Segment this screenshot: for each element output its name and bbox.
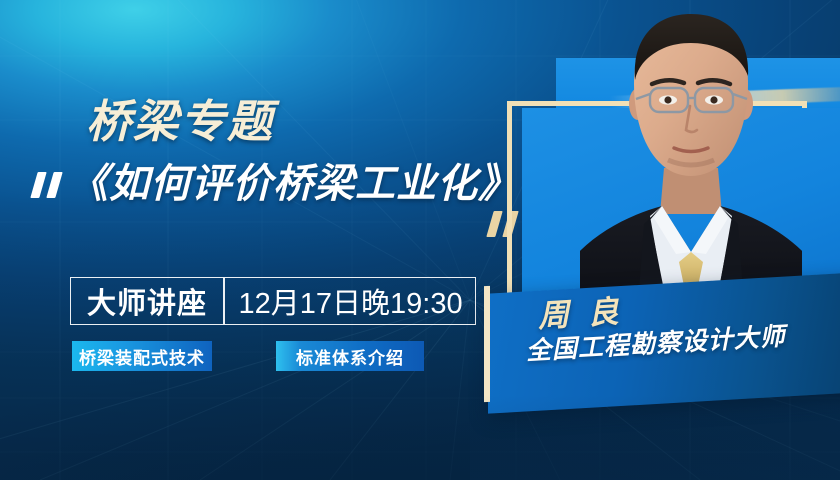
nameplate-gold-edge: [484, 286, 490, 402]
page-title: 桥梁专题: [86, 99, 274, 144]
lecture-info-bar: 大师讲座 12月17日晚19:30: [70, 277, 476, 325]
topic-tag-2: 标准体系介绍: [276, 341, 424, 371]
lecture-subtitle: 《如何评价桥梁工业化》: [68, 164, 519, 204]
open-quote-icon: [34, 172, 59, 198]
tag-spacer: [212, 341, 276, 371]
lecture-type-label: 大师讲座: [71, 278, 223, 324]
topic-tag-1: 桥梁装配式技术: [72, 341, 212, 371]
lecture-datetime: 12月17日晚19:30: [225, 278, 475, 324]
speaker-info: 周 良 全国工程勘察设计大师: [523, 283, 840, 412]
topic-tag-list: 桥梁装配式技术 标准体系介绍: [72, 341, 424, 371]
lecture-poster: 桥梁专题 《如何评价桥梁工业化》 大师讲座 12月17日晚19:30 桥梁装配式…: [0, 0, 840, 480]
speaker-composition: 周 良 全国工程勘察设计大师: [470, 0, 840, 480]
